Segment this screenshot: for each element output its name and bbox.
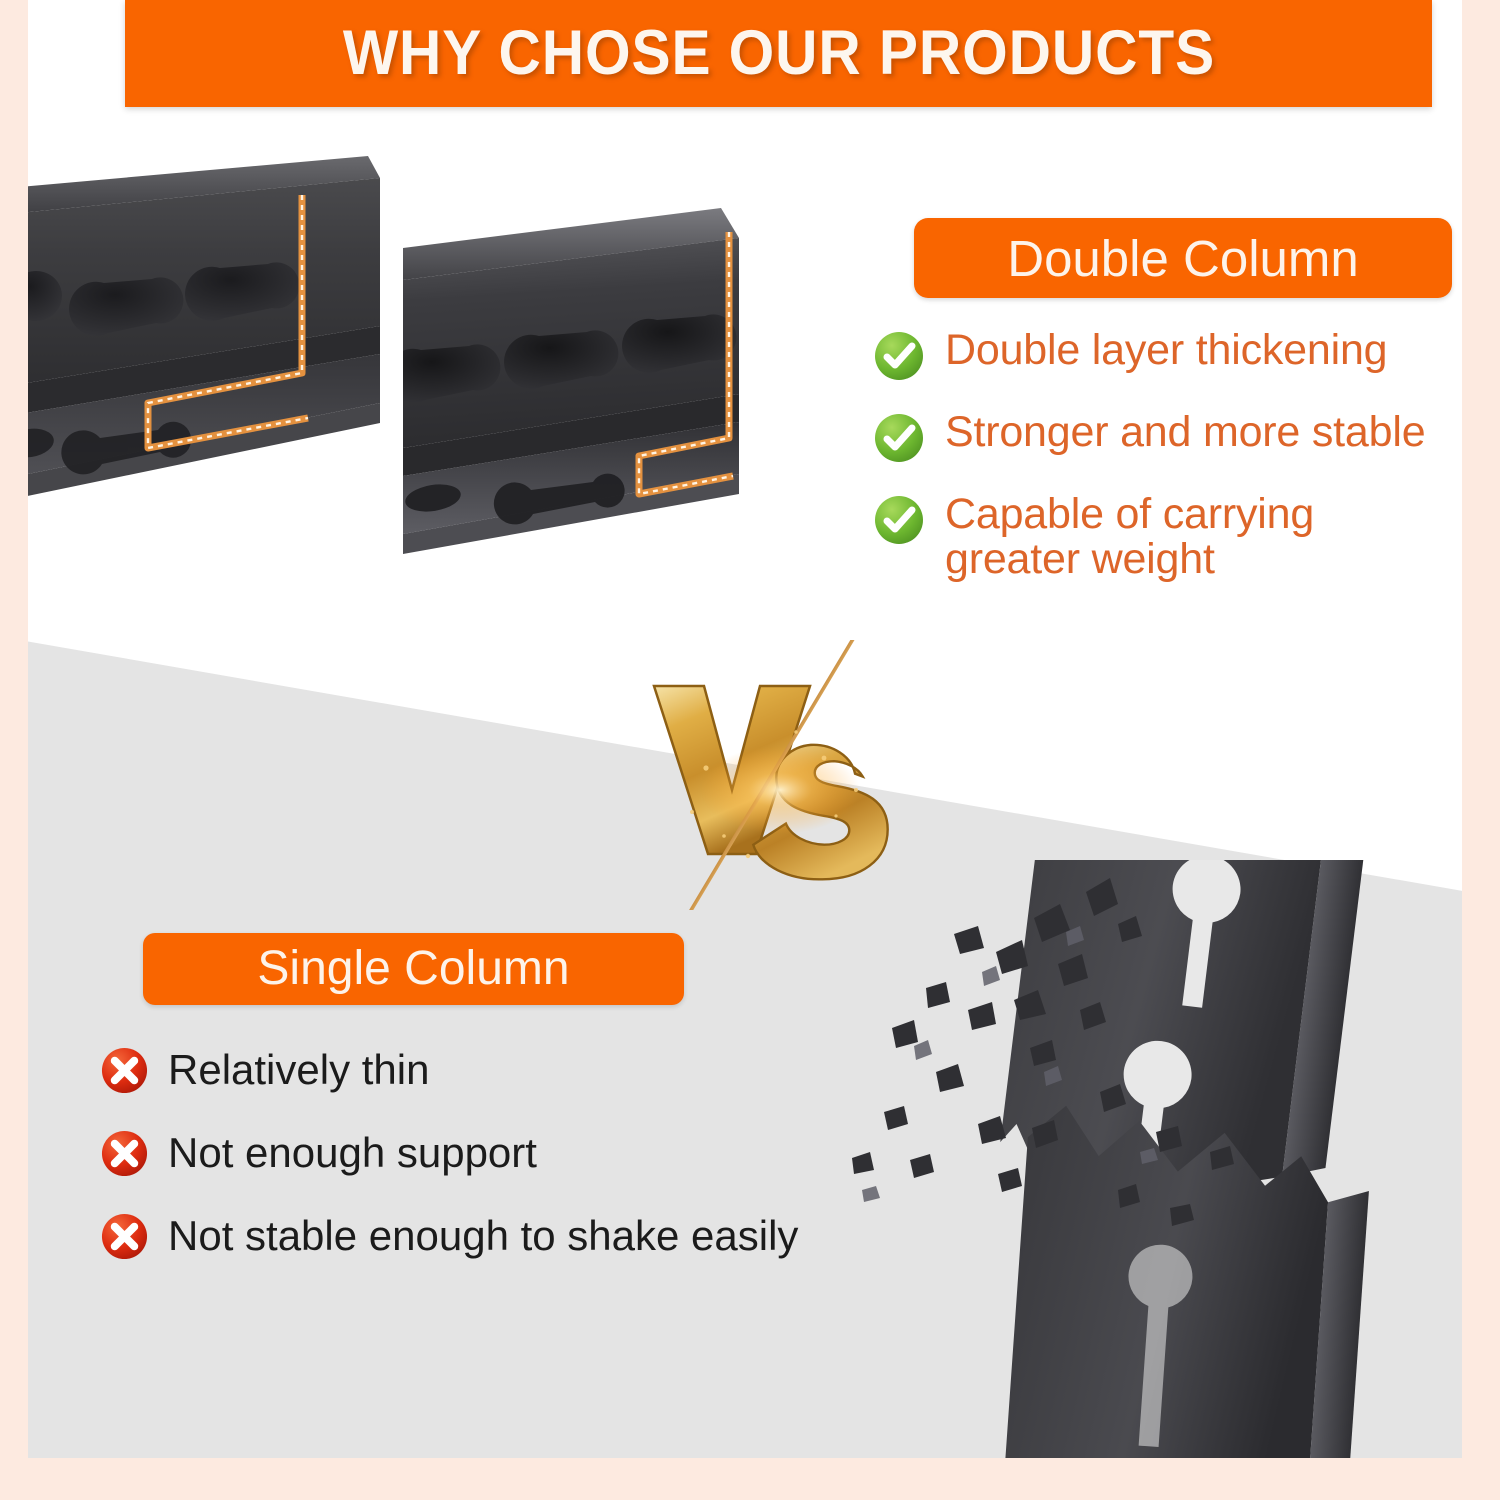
benefit-label: Capable of carrying greater weight bbox=[945, 492, 1314, 581]
list-item: Double layer thickening bbox=[873, 328, 1462, 382]
drawback-label: Relatively thin bbox=[168, 1048, 429, 1092]
list-item: Capable of carrying greater weight bbox=[873, 492, 1462, 581]
benefit-label: Stronger and more stable bbox=[945, 410, 1425, 455]
double-column-badge: Double Column bbox=[914, 218, 1452, 298]
cross-circle-icon bbox=[100, 1129, 149, 1178]
check-circle-icon bbox=[873, 494, 925, 546]
steel-beam-left bbox=[28, 148, 428, 568]
cross-circle-icon bbox=[100, 1046, 149, 1095]
content-canvas: Double Column bbox=[28, 0, 1462, 1458]
page-title: WHY CHOSE OUR PRODUCTS bbox=[342, 22, 1214, 85]
infographic-page: Double Column bbox=[0, 0, 1500, 1500]
check-circle-icon bbox=[873, 330, 925, 382]
list-item: Stronger and more stable bbox=[873, 410, 1462, 464]
vs-versus-icon bbox=[628, 640, 968, 910]
single-column-badge: Single Column bbox=[143, 933, 684, 1005]
double-column-badge-label: Double Column bbox=[1007, 233, 1359, 284]
benefits-list: Double layer thickening bbox=[873, 328, 1462, 581]
steel-beam-right bbox=[403, 198, 833, 598]
drawbacks-list: Relatively thin bbox=[100, 1046, 930, 1261]
list-item: Not enough support bbox=[100, 1129, 930, 1178]
drawback-label: Not enough support bbox=[168, 1131, 537, 1175]
cross-circle-icon bbox=[100, 1212, 149, 1261]
header-banner: WHY CHOSE OUR PRODUCTS bbox=[125, 0, 1432, 107]
drawback-label: Not stable enough to shake easily bbox=[168, 1214, 798, 1258]
benefit-label: Double layer thickening bbox=[945, 328, 1387, 373]
check-circle-icon bbox=[873, 412, 925, 464]
list-item: Relatively thin bbox=[100, 1046, 930, 1095]
list-item: Not stable enough to shake easily bbox=[100, 1212, 930, 1261]
single-column-badge-label: Single Column bbox=[257, 945, 569, 993]
double-column-steel-beam-photo bbox=[28, 120, 828, 620]
